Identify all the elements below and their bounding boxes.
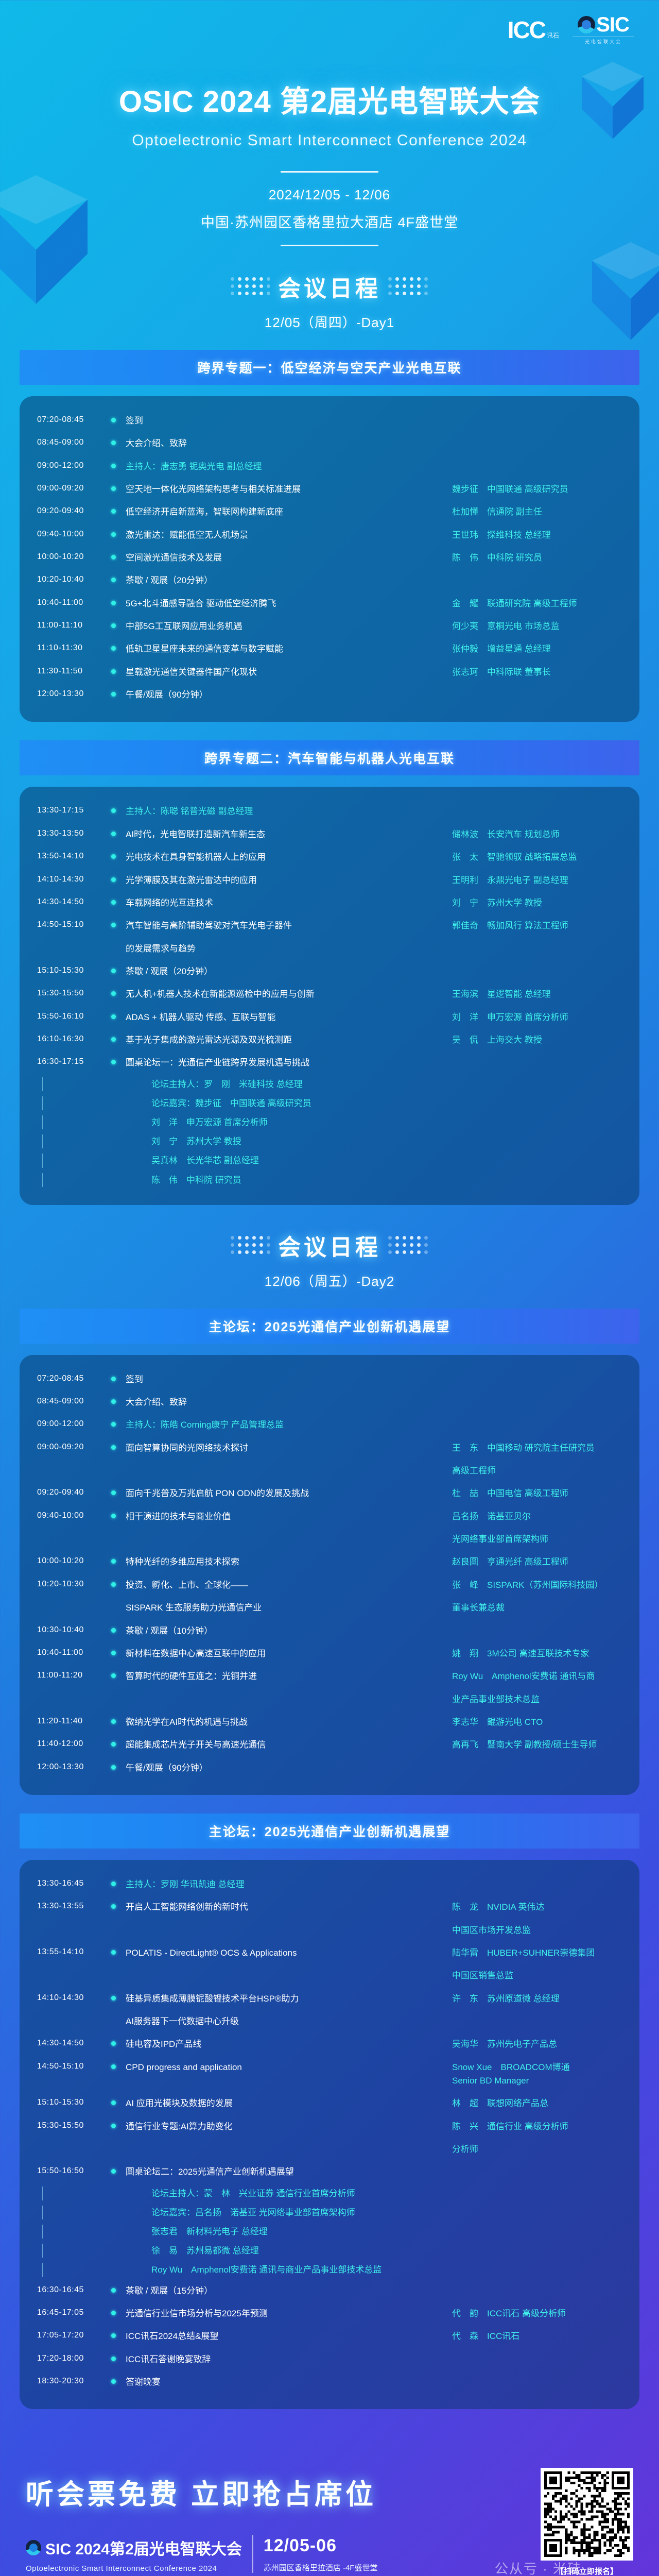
agenda-table: 07:20-08:45签到08:45-09:00大会介绍、致辞09:00-12:… [20,1355,639,1795]
agenda-row-topic: 无人机+机器人技术在新能源巡检中的应用与创新 [126,988,452,1001]
day-banner-title: 会议日程 [278,1229,381,1262]
bullet-icon [111,2100,116,2105]
agenda-row: 12:00-13:30午餐/观展（90分钟） [37,684,622,706]
agenda-row: 10:00-10:20空间激光通信技术及发展陈 伟 中科院 研究员 [37,547,622,569]
footer-cta: 听会票免费 立即抢占席位 SIC 2024第2届光电智联大会 Optoelect… [0,2440,659,2576]
agenda-row-speaker: 陈 伟 中科院 研究员 [452,551,622,565]
event-date: 2024/12/05 - 12/06 [0,187,659,203]
agenda-row: 16:30-17:15圆桌论坛一：光通信产业链跨界发展机遇与挑战 [37,1052,622,1074]
agenda-row-speaker: 张 太 智驰领驭 战略拓展总监 [452,851,622,864]
agenda-row: 11:10-11:30低轨卫星星座未来的通信变革与数字赋能张仲毅 增益星通 总经… [37,638,622,660]
agenda-row-topic: CPD progress and application [126,2061,452,2074]
agenda-row: 13:55-14:10POLATIS - DirectLight® OCS & … [37,1942,622,1964]
agenda-row-speaker: 董事长兼总裁 [452,1601,622,1615]
agenda-row: 10:40-11:005G+北斗通感导融合 驱动低空经济腾飞金 耀 联通研究院 … [37,592,622,615]
agenda-row-time: 08:45-09:00 [37,437,108,447]
agenda-row-time: 14:50-15:10 [37,2061,108,2071]
agenda-row: 10:20-10:40茶歇 / 观展（20分钟） [37,569,622,592]
agenda-row-time: 13:30-17:15 [37,805,108,815]
agenda-row-speaker: 许 东 苏州原道微 总经理 [452,1992,622,2006]
agenda-row-time: 14:10-14:30 [37,1992,108,2003]
agenda-row-speaker: 吴海华 苏州先电子产品总 [452,2038,622,2051]
agenda-row-speaker: 赵良圆 亨通光纤 高级工程师 [452,1555,622,1569]
footer-brand-name: SIC 2024第2届光电智联大会 [45,2536,242,2559]
agenda-row-time: 10:20-10:40 [37,574,108,584]
agenda-row-speaker: 陈 龙 NVIDIA 英伟达 [452,1901,622,1914]
panel-line: 张志君 新材料光电子 总经理 [37,2222,622,2241]
bullet-icon [111,440,116,445]
bullet-icon [111,1719,116,1724]
agenda-row-topic: 茶歇 / 观展（10分钟） [126,1624,452,1638]
agenda-row: 11:00-11:20智算时代的硬件互连之：光铜并进Roy Wu Ampheno… [37,1665,622,1688]
bullet-icon [111,2124,116,2128]
agenda-row-time: 16:45-17:05 [37,2307,108,2317]
agenda-row-time: 13:50-14:10 [37,851,108,861]
agenda-row-speaker: 何少夷 意桐光电 市场总监 [452,620,622,633]
panel-spacer [37,1154,126,1167]
bullet-icon [111,991,116,996]
agenda-row-topic: 相干演进的技术与商业价值 [126,1510,452,1523]
agenda-row-time: 13:30-13:50 [37,828,108,838]
bullet-icon [111,555,116,560]
bullet-icon [111,1582,116,1587]
agenda-row: 15:10-15:30茶歇 / 观展（20分钟） [37,960,622,983]
agenda-row: 10:40-11:00新材料在数据中心高速互联中的应用姚 翔 3M公司 高速互联… [37,1642,622,1665]
agenda-row-time: 15:30-15:50 [37,988,108,998]
agenda-row: 17:20-18:00ICC讯石答谢晚宴致辞 [37,2348,622,2371]
agenda-row: 09:40-10:00相干演进的技术与商业价值吕名扬 诺基亚贝尔 [37,1505,622,1528]
bullet-icon [111,1950,116,1955]
agenda-row: 17:05-17:20ICC讯石2024总结&展望代 森 ICC讯石 [37,2325,622,2348]
footer-divider [252,2535,253,2573]
agenda-row-topic: 茶歇 / 观展（20分钟） [126,965,452,978]
agenda-row-topic: 光电技术在具身智能机器人上的应用 [126,851,452,864]
dot-grid-icon [231,277,271,296]
agenda-row-speaker: 代 韵 ICC讯石 高级分析师 [452,2307,622,2320]
agenda-row-topic: AI服务器下一代数据中心升级 [126,2015,452,2028]
agenda-row: 中国区市场开发总监 [37,1919,622,1942]
panel-line-text: 徐 易 苏州易都微 总经理 [126,2244,622,2258]
osic-logo: SIC 光电智联大会 [573,14,634,45]
agenda-row-speaker: 张仲毅 增益星通 总经理 [452,642,622,656]
agenda-row-speaker: Snow Xue BROADCOM博通Senior BD Manager [452,2061,622,2088]
bullet-icon [111,1673,116,1678]
panel-line-text: 论坛嘉宾：魏步征 中国联通 高级研究员 [126,1096,622,1110]
bullet-icon [111,900,116,905]
agenda-row-topic: 车载网络的光互连技术 [126,896,452,910]
agenda-row-time: 15:30-15:50 [37,2120,108,2130]
osic-ring-icon [26,2540,41,2555]
agenda-row-time: 09:40-10:00 [37,529,108,539]
agenda-row: 14:30-14:50车载网络的光互连技术刘 宁 苏州大学 教授 [37,892,622,914]
agenda-row-topic: 低空经济开启新蓝海，智联网构建新底座 [126,505,452,519]
agenda-row-topic: 圆桌论坛二：2025光通信产业创新机遇展望 [126,2165,452,2179]
agenda-row-topic: 基于光子集成的激光雷达光源及双光梳测距 [126,1033,452,1047]
agenda-row: 的发展需求与趋势 [37,938,622,960]
icc-logo: ICC 讯石 [508,18,559,42]
agenda-row-speaker: 杜加懂 信通院 副主任 [452,505,622,519]
agenda-row: 10:30-10:40茶歇 / 观展（10分钟） [37,1620,622,1642]
bullet-icon [111,1882,116,1886]
bullet-icon [111,877,116,882]
agenda-row-time: 14:10-14:30 [37,874,108,884]
bullet-icon [111,1996,116,2001]
agenda-row: 16:10-16:30基于光子集成的激光雷达光源及双光梳测距吴 侃 上海交大 教… [37,1029,622,1052]
agenda-row: 16:30-16:45茶歇 / 观展（15分钟） [37,2280,622,2302]
footer-logo: SIC 2024第2届光电智联大会 Optoelectronic Smart I… [26,2536,242,2573]
agenda-row-speaker: 魏步征 中国联通 高级研究员 [452,483,622,496]
agenda-row-speaker: 业产品事业部技术总监 [452,1693,622,1706]
agenda-row: 09:00-09:20空天地一体化光网络架构思考与相关标准进展魏步征 中国联通 … [37,478,622,501]
agenda-row: 13:30-16:45主持人：罗刚 华讯凯迪 总经理 [37,1873,622,1896]
agenda-row: 分析师 [37,2138,622,2161]
panel-line: 论坛主持人：蒙 林 兴业证券 通信行业首席分析师 [37,2184,622,2203]
panel-spacer [37,2206,126,2219]
bullet-icon [111,1559,116,1564]
agenda-row-topic: 开启人工智能网络创新的新时代 [126,1901,452,1914]
agenda-row-topic: 新材料在数据中心高速互联中的应用 [126,1647,452,1660]
agenda-row: 09:00-09:20面向智算协同的光网络技术探讨王 东 中国移动 研究院主任研… [37,1437,622,1460]
bullet-icon [111,1399,116,1404]
agenda-row: 07:20-08:45签到 [37,410,622,432]
bullet-icon [111,532,116,537]
panel-spacer [37,1134,126,1148]
panel-line-text: Roy Wu Amphenol安费诺 通讯与商业产品事业部技术总监 [126,2263,622,2277]
panel-spacer [37,2187,126,2200]
agenda-row-topic: 主持人：陈聪 铭普光磁 副总经理 [126,805,452,818]
agenda-row-time: 12:00-13:30 [37,1761,108,1772]
agenda-row-topic: AI 应用光模块及数据的发展 [126,2097,452,2110]
page-title: OSIC 2024 第2届光电智联大会 [0,77,659,121]
agenda-row-time: 17:05-17:20 [37,2330,108,2340]
agenda-row: 09:00-12:00主持人：唐志勇 铌奥光电 副总经理 [37,455,622,478]
session-block: 跨界专题一：低空经济与空天产业光电互联07:20-08:45签到08:45-09… [20,350,639,722]
agenda-row-topic: 激光雷达：赋能低空无人机场景 [126,529,452,542]
agenda-row-topic: 特种光纤的多维应用技术探索 [126,1555,452,1569]
bullet-icon [111,418,116,422]
agenda-row-topic: 面向千兆普及万兆启航 PON ODN的发展及挑战 [126,1487,452,1500]
divider-top [281,171,378,173]
days-container: 会议日程12/05（周四）-Day1跨界专题一：低空经济与空天产业光电互联07:… [0,270,659,2409]
agenda-row-topic: 汽车智能与高阶辅助驾驶对汽车光电子器件 [126,919,452,933]
agenda-row-topic: 投资、孵化、上市、全球化—— [126,1579,452,1592]
agenda-row: 13:50-14:10光电技术在具身智能机器人上的应用张 太 智驰领驭 战略拓展… [37,846,622,869]
bullet-icon [111,2333,116,2338]
agenda-row: 12:00-13:30午餐/观展（90分钟） [37,1757,622,1780]
agenda-row-speaker: 储林波 长安汽车 规划总师 [452,828,622,841]
bullet-icon [111,1037,116,1042]
session-title: 跨界专题二：汽车智能与机器人光电互联 [20,740,639,775]
bullet-icon [111,464,116,468]
agenda-row: 10:20-10:30投资、孵化、上市、全球化——张 峰 SISPARK（苏州国… [37,1574,622,1597]
bullet-icon [111,486,116,491]
panel-line: 论坛嘉宾：吕名扬 诺基亚 光网络事业部首席架构师 [37,2203,622,2222]
agenda-row-speaker: 刘 洋 申万宏源 首席分析师 [452,1011,622,1024]
agenda-row-topic: SISPARK 生态服务助力光通信产业 [126,1601,452,1615]
agenda-row-topic: 大会介绍、致辞 [126,437,452,450]
panel-spacer [37,2225,126,2239]
agenda-row: 14:50-15:10CPD progress and applicationS… [37,2056,622,2093]
agenda-row: 11:00-11:10中部5G工互联网应用业务机遇何少夷 意桐光电 市场总监 [37,615,622,638]
panel-line: 论坛主持人：罗 刚 米硅科技 总经理 [37,1075,622,1094]
day-banner: 会议日程12/06（周五）-Day2 [0,1229,659,1290]
agenda-row: 14:50-15:10汽车智能与高阶辅助驾驶对汽车光电子器件郭佳奇 畅加风行 算… [37,914,622,937]
panel-line: 刘 宁 苏州大学 教授 [37,1132,622,1151]
agenda-row-topic: 5G+北斗通感导融合 驱动低空经济腾飞 [126,597,452,611]
agenda-row-topic: 主持人：陈皓 Corning康宁 产品管理总监 [126,1418,452,1432]
session-block: 跨界专题二：汽车智能与机器人光电互联13:30-17:15主持人：陈聪 铭普光磁… [20,740,639,1205]
bullet-icon [111,2288,116,2293]
agenda-row: 10:00-10:20特种光纤的多维应用技术探索赵良圆 亨通光纤 高级工程师 [37,1551,622,1573]
agenda-row-time: 07:20-08:45 [37,414,108,425]
bullet-icon [111,1377,116,1381]
agenda-row-topic: 通信行业专题:AI算力助变化 [126,2120,452,2133]
agenda-row: 07:20-08:45签到 [37,1368,622,1391]
agenda-row-speaker: 光网络事业部首席架构师 [452,1533,622,1546]
agenda-row-speaker: 金 耀 联通研究院 高级工程师 [452,597,622,611]
watermark: 公从亏 · 米硅 [495,2558,582,2576]
agenda-row-speaker: 吴 侃 上海交大 教授 [452,1033,622,1047]
agenda-row-time: 10:30-10:40 [37,1624,108,1635]
osic-ring-icon [578,16,595,33]
panel-line-text: 论坛主持人：罗 刚 米硅科技 总经理 [126,1077,622,1091]
bullet-icon [111,1060,116,1064]
bullet-icon [111,1765,116,1770]
agenda-row-speaker: 姚 翔 3M公司 高速互联技术专家 [452,1647,622,1660]
agenda-row-time: 17:20-18:00 [37,2353,108,2363]
agenda-row-time: 16:30-17:15 [37,1056,108,1066]
agenda-row-speaker: 中国区市场开发总监 [452,1924,622,1937]
agenda-row-time: 07:20-08:45 [37,1373,108,1383]
agenda-table: 13:30-16:45主持人：罗刚 华讯凯迪 总经理13:30-13:55开启人… [20,1860,639,2409]
agenda-row-topic: 面向智算协同的光网络技术探讨 [126,1442,452,1455]
agenda-row: 11:30-11:50星载激光通信关键器件国产化现状张志珂 中科际联 董事长 [37,661,622,684]
session-block: 主论坛：2025光通信产业创新机遇展望13:30-16:45主持人：罗刚 华讯凯… [20,1814,639,2409]
agenda-row-topic: 茶歇 / 观展（20分钟） [126,574,452,587]
agenda-row: 13:30-17:15主持人：陈聪 铭普光磁 副总经理 [37,800,622,823]
agenda-row-topic: ICC讯石答谢晚宴致辞 [126,2353,452,2366]
qr-code-icon[interactable] [541,2468,633,2561]
day-banner: 会议日程12/05（周四）-Day1 [0,270,659,331]
day-banner-date: 12/06（周五）-Day2 [0,1271,659,1290]
panel-spacer [37,2263,126,2277]
agenda-row-topic: ICC讯石2024总结&展望 [126,2330,452,2343]
bullet-icon [111,1490,116,1495]
panel-line: 刘 洋 申万宏源 首席分析师 [37,1113,622,1132]
agenda-row: 14:10-14:30光学薄膜及其在激光雷达中的应用王明利 永鼎光电子 副总经理 [37,869,622,892]
agenda-row-speaker: 郭佳奇 畅加风行 算法工程师 [452,919,622,933]
agenda-row-topic: 智算时代的硬件互连之：光铜并进 [126,1670,452,1683]
agenda-row-topic: ADAS + 机器人驱动 传感、互联与智能 [126,1011,452,1024]
agenda-row-speaker: 张志珂 中科际联 董事长 [452,666,622,679]
agenda-row-topic: 空间激光通信技术及发展 [126,551,452,565]
bullet-icon [111,646,116,651]
agenda-row: 15:30-15:50通信行业专题:AI算力助变化陈 兴 通信行业 高级分析师 [37,2115,622,2138]
agenda-row-time: 11:00-11:10 [37,620,108,630]
agenda-row-time: 13:30-16:45 [37,1878,108,1888]
panel-line-text: 张志君 新材料光电子 总经理 [126,2225,622,2239]
agenda-row-topic: 茶歇 / 观展（15分钟） [126,2284,452,2298]
agenda-table: 13:30-17:15主持人：陈聪 铭普光磁 副总经理13:30-13:50AI… [20,787,639,1205]
footer-brand-en: Optoelectronic Smart Interconnect Confer… [26,2564,242,2573]
agenda-row: 业产品事业部技术总监 [37,1688,622,1711]
agenda-row: 光网络事业部首席架构师 [37,1528,622,1551]
agenda-row-time: 10:40-11:00 [37,1647,108,1657]
agenda-row-topic: 主持人：唐志勇 铌奥光电 副总经理 [126,460,452,473]
bullet-icon [111,969,116,973]
agenda-row: 18:30-20:30答谢晚宴 [37,2371,622,2394]
panel-line: 论坛嘉宾：魏步征 中国联通 高级研究员 [37,1094,622,1113]
agenda-row-time: 16:30-16:45 [37,2284,108,2295]
osic-logo-text: SIC [596,14,629,35]
agenda-row: 13:30-13:50AI时代，光电智联打造新汽车新生态储林波 长安汽车 规划总… [37,823,622,846]
agenda-row-topic: 光学薄膜及其在激光雷达中的应用 [126,874,452,887]
session-block: 主论坛：2025光通信产业创新机遇展望07:20-08:45签到08:45-09… [20,1309,639,1795]
agenda-row-time: 09:00-09:20 [37,483,108,493]
agenda-row: 14:30-14:50硅电容及IPD产品线吴海华 苏州先电子产品总 [37,2033,622,2056]
agenda-row-topic: 大会介绍、致辞 [126,1396,452,1409]
agenda-row-topic: 圆桌论坛一：光通信产业链跨界发展机遇与挑战 [126,1056,452,1070]
agenda-row: 08:45-09:00大会介绍、致辞 [37,1391,622,1414]
panel-spacer [37,1115,126,1129]
bullet-icon [111,623,116,628]
agenda-row-time: 10:00-10:20 [37,1555,108,1566]
panel-line: 陈 伟 中科院 研究员 [37,1171,622,1190]
dot-grid-icon [231,1236,271,1255]
agenda-row-speaker: 高级工程师 [452,1464,622,1478]
agenda-row-speaker: 高再飞 暨南大学 副教授/硕士生导师 [452,1738,622,1752]
agenda-row-time: 08:45-09:00 [37,1396,108,1406]
bullet-icon [111,1904,116,1909]
icc-logo-text: ICC [508,18,545,42]
agenda-row-time: 15:10-15:30 [37,965,108,975]
agenda-row-topic: 午餐/观展（90分钟） [126,688,452,702]
agenda-row-speaker: 陆华雷 HUBER+SUHNER崇德集团 [452,1946,622,1960]
agenda-row-time: 10:20-10:30 [37,1579,108,1589]
agenda-row-speaker: 王世玮 探维科技 总经理 [452,529,622,542]
panel-line: 吴真林 长光华芯 副总经理 [37,1151,622,1170]
agenda-row: 15:50-16:50圆桌论坛二：2025光通信产业创新机遇展望 [37,2161,622,2183]
bullet-icon [111,578,116,582]
agenda-row-speaker: 陈 兴 通信行业 高级分析师 [452,2120,622,2133]
agenda-row-time: 15:50-16:10 [37,1011,108,1021]
panel-line-text: 论坛嘉宾：吕名扬 诺基亚 光网络事业部首席架构师 [126,2206,622,2219]
agenda-row-topic: 光通信行业信市场分析与2025年预测 [126,2307,452,2320]
agenda-row: 09:40-10:00激光雷达：赋能低空无人机场景王世玮 探维科技 总经理 [37,524,622,547]
agenda-row-speaker: 中国区销售总监 [452,1969,622,1982]
agenda-row-time: 11:00-11:20 [37,1670,108,1680]
agenda-row-time: 15:50-16:50 [37,2165,108,2176]
dot-grid-icon [388,1236,428,1255]
agenda-row-time: 09:20-09:40 [37,1487,108,1497]
panel-line-text: 陈 伟 中科院 研究员 [126,1173,622,1187]
agenda-row: 09:00-12:00主持人：陈皓 Corning康宁 产品管理总监 [37,1414,622,1436]
bullet-icon [111,808,116,813]
agenda-row-time: 16:10-16:30 [37,1033,108,1044]
session-title: 主论坛：2025光通信产业创新机遇展望 [20,1309,639,1344]
agenda-row-speaker: 林 超 联想网络产品总 [452,2097,622,2110]
osic-logo-caption: 光电智联大会 [573,37,634,45]
agenda-row-topic: 签到 [126,1373,452,1386]
agenda-row-topic: 低轨卫星星座未来的通信变革与数字赋能 [126,642,452,656]
agenda-row-time: 11:10-11:30 [37,642,108,653]
agenda-row-time: 10:40-11:00 [37,597,108,607]
footer-venue: 苏州园区香格里拉酒店 -4F盛世堂 [264,2562,378,2573]
agenda-row-time: 18:30-20:30 [37,2376,108,2386]
agenda-row-speaker: 王明利 永鼎光电子 副总经理 [452,874,622,887]
bullet-icon [111,2041,116,2046]
panel-line: 徐 易 苏州易都微 总经理 [37,2241,622,2260]
agenda-row: SISPARK 生态服务助力光通信产业董事长兼总裁 [37,1597,622,1619]
agenda-row: 16:45-17:05光通信行业信市场分析与2025年预测代 韵 ICC讯石 高… [37,2302,622,2325]
icc-logo-subtext: 讯石 [547,31,559,42]
agenda-row-time: 09:20-09:40 [37,505,108,516]
agenda-row-speaker: 王海滨 星逻智能 总经理 [452,988,622,1001]
agenda-row-speaker: Roy Wu Amphenol安费诺 通讯与商 [452,1670,622,1683]
session-title: 主论坛：2025光通信产业创新机遇展望 [20,1814,639,1849]
bullet-icon [111,2379,116,2384]
cta-headline: 听会票免费 立即抢占席位 [26,2471,377,2512]
agenda-row-time: 11:30-11:50 [37,666,108,676]
bullet-icon [111,2357,116,2361]
bullet-icon [111,1742,116,1747]
agenda-row: 中国区销售总监 [37,1964,622,1987]
agenda-row-topic: 硅基异质集成薄膜铌酸锂技术平台HSP®助力 [126,1992,452,2006]
panel-line-text: 论坛主持人：蒙 林 兴业证券 通信行业首席分析师 [126,2187,622,2200]
agenda-row-time: 09:00-12:00 [37,460,108,470]
agenda-row-speaker: 代 森 ICC讯石 [452,2330,622,2343]
agenda-row: 11:20-11:40微纳光学在AI时代的机遇与挑战李志华 鲲游光电 CTO [37,1711,622,1734]
panel-spacer [37,1173,126,1187]
bullet-icon [111,2064,116,2069]
agenda-row: 15:10-15:30AI 应用光模块及数据的发展林 超 联想网络产品总 [37,2092,622,2115]
bullet-icon [111,923,116,927]
agenda-row-topic: 签到 [126,414,452,428]
agenda-row: 09:20-09:40低空经济开启新蓝海，智联网构建新底座杜加懂 信通院 副主任 [37,501,622,523]
agenda-row-speaker: 杜 喆 中国电信 高级工程师 [452,1487,622,1500]
agenda-row-topic: POLATIS - DirectLight® OCS & Application… [126,1946,452,1960]
agenda-row-topic: 超能集成芯片光子开关与高速光通信 [126,1738,452,1752]
agenda-row-time: 10:00-10:20 [37,551,108,562]
agenda-row-time: 12:00-13:30 [37,688,108,699]
agenda-row-time: 15:10-15:30 [37,2097,108,2107]
bullet-icon [111,692,116,697]
bullet-icon [111,1014,116,1019]
agenda-row-topic: 的发展需求与趋势 [126,942,452,956]
agenda-row-speaker-line2: Senior BD Manager [452,2074,622,2088]
agenda-row-speaker: 王 东 中国移动 研究院主任研究员 [452,1442,622,1455]
bullet-icon [111,1445,116,1450]
agenda-row: 15:50-16:10ADAS + 机器人驱动 传感、互联与智能刘 洋 申万宏源… [37,1006,622,1029]
agenda-row-topic: 主持人：罗刚 华讯凯迪 总经理 [126,1878,452,1891]
panel-spacer [37,2244,126,2258]
divider-bottom [281,245,378,246]
page-subtitle: Optoelectronic Smart Interconnect Confer… [0,132,659,149]
agenda-row-time: 13:30-13:55 [37,1901,108,1911]
agenda-row-topic: 午餐/观展（90分钟） [126,1761,452,1775]
agenda-row-time: 14:30-14:50 [37,2038,108,2048]
bullet-icon [111,601,116,605]
bullet-icon [111,509,116,514]
agenda-row-speaker: 分析师 [452,2143,622,2156]
event-venue: 中国·苏州园区香格里拉大酒店 4F盛世堂 [0,211,659,231]
bullet-icon [111,669,116,674]
agenda-row-topic: 空天地一体化光网络架构思考与相关标准进展 [126,483,452,496]
agenda-row-speaker: 张 峰 SISPARK（苏州国际科技园） [452,1579,622,1592]
agenda-row: 13:30-13:55开启人工智能网络创新的新时代陈 龙 NVIDIA 英伟达 [37,1896,622,1919]
agenda-row: 08:45-09:00大会介绍、致辞 [37,432,622,455]
panel-spacer [37,1096,126,1110]
